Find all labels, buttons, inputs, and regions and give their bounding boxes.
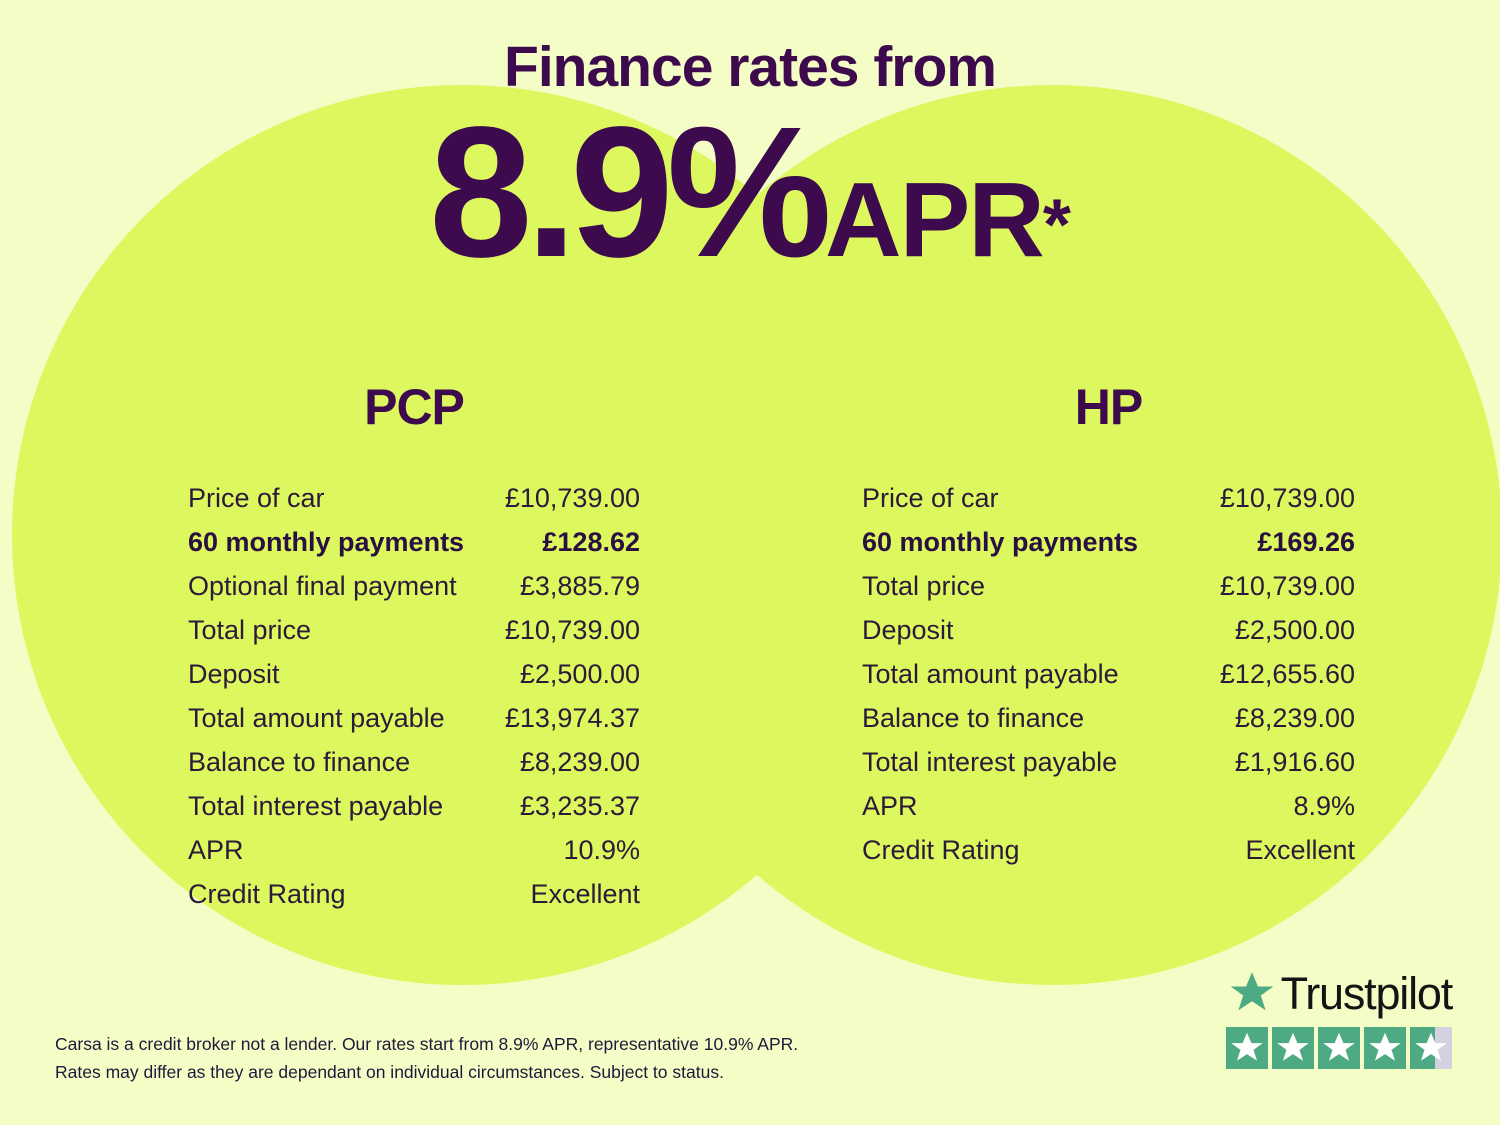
hero-asterisk: * bbox=[1043, 186, 1071, 266]
plan-row-value: £10,739.00 bbox=[505, 617, 640, 644]
rating-star-full bbox=[1364, 1027, 1406, 1069]
hero-apr-rate: 8.9% bbox=[429, 89, 825, 296]
plan-row: APR10.9% bbox=[188, 828, 640, 872]
hero-apr-label: APR bbox=[825, 161, 1043, 279]
plan-title-hp: HP bbox=[862, 382, 1355, 432]
plan-row: 60 monthly payments£169.26 bbox=[862, 520, 1355, 564]
plan-row-label: Deposit bbox=[862, 617, 954, 644]
trustpilot-name: Trustpilot bbox=[1281, 971, 1452, 1016]
plan-row-value: £1,916.60 bbox=[1235, 749, 1355, 776]
plan-row-value: £3,885.79 bbox=[520, 573, 640, 600]
plan-row-label: Total interest payable bbox=[188, 793, 443, 820]
plan-row-value: £128.62 bbox=[542, 529, 640, 556]
plan-row: 60 monthly payments£128.62 bbox=[188, 520, 640, 564]
plan-row-label: Total amount payable bbox=[188, 705, 445, 732]
plan-row-label: Balance to finance bbox=[862, 705, 1084, 732]
plan-row: Deposit£2,500.00 bbox=[862, 608, 1355, 652]
plan-row: Credit RatingExcellent bbox=[862, 828, 1355, 872]
plan-row-label: Optional final payment bbox=[188, 573, 457, 600]
plan-row-value: £169.26 bbox=[1257, 529, 1355, 556]
plan-row: Price of car£10,739.00 bbox=[188, 476, 640, 520]
plan-row: Credit RatingExcellent bbox=[188, 872, 640, 916]
plan-row-label: APR bbox=[862, 793, 918, 820]
plan-rows-pcp: Price of car£10,739.0060 monthly payment… bbox=[188, 476, 640, 916]
plan-row-value: £12,655.60 bbox=[1220, 661, 1355, 688]
plan-row: Total interest payable£3,235.37 bbox=[188, 784, 640, 828]
trustpilot-wordmark: Trustpilot bbox=[1226, 968, 1452, 1018]
hero-rate-line: 8.9%APR* bbox=[0, 98, 1500, 286]
plan-row-value: £8,239.00 bbox=[1235, 705, 1355, 732]
plan-row-value: Excellent bbox=[530, 881, 640, 908]
plan-row: Total price£10,739.00 bbox=[188, 608, 640, 652]
plan-row: Total price£10,739.00 bbox=[862, 564, 1355, 608]
plan-row-label: Credit Rating bbox=[188, 881, 346, 908]
plan-comparison: PCP Price of car£10,739.0060 monthly pay… bbox=[0, 382, 1500, 916]
plan-row: APR8.9% bbox=[862, 784, 1355, 828]
plan-row: Deposit£2,500.00 bbox=[188, 652, 640, 696]
plan-row: Balance to finance£8,239.00 bbox=[862, 696, 1355, 740]
plan-row: Total amount payable£13,974.37 bbox=[188, 696, 640, 740]
disclaimer-text: Carsa is a credit broker not a lender. O… bbox=[55, 1030, 875, 1087]
rating-star-full bbox=[1226, 1027, 1268, 1069]
plan-row-label: Price of car bbox=[862, 485, 999, 512]
plan-row-value: £2,500.00 bbox=[1235, 617, 1355, 644]
plan-column-pcp: PCP Price of car£10,739.0060 monthly pay… bbox=[0, 382, 750, 916]
header: Finance rates from 8.9%APR* bbox=[0, 0, 1500, 286]
plan-row: Price of car£10,739.00 bbox=[862, 476, 1355, 520]
page-title: Finance rates from bbox=[0, 0, 1500, 98]
plan-row-value: £13,974.37 bbox=[505, 705, 640, 732]
plan-row-label: Price of car bbox=[188, 485, 325, 512]
plan-row-label: 60 monthly payments bbox=[862, 529, 1138, 556]
plan-row-label: Credit Rating bbox=[862, 837, 1020, 864]
plan-row-value: £8,239.00 bbox=[520, 749, 640, 776]
trustpilot-star-icon bbox=[1229, 970, 1275, 1016]
plan-row-label: Total price bbox=[188, 617, 311, 644]
disclaimer-line-2: Rates may differ as they are dependant o… bbox=[55, 1058, 875, 1086]
plan-row: Total amount payable£12,655.60 bbox=[862, 652, 1355, 696]
plan-row-label: 60 monthly payments bbox=[188, 529, 464, 556]
finance-rates-graphic: Finance rates from 8.9%APR* PCP Price of… bbox=[0, 0, 1500, 1125]
plan-row-label: Total price bbox=[862, 573, 985, 600]
rating-star-half bbox=[1410, 1027, 1452, 1069]
plan-row-value: Excellent bbox=[1245, 837, 1355, 864]
plan-row-label: Total interest payable bbox=[862, 749, 1117, 776]
plan-row-value: 8.9% bbox=[1293, 793, 1355, 820]
plan-row-value: £10,739.00 bbox=[1220, 573, 1355, 600]
plan-row-value: 10.9% bbox=[563, 837, 640, 864]
rating-star-full bbox=[1272, 1027, 1314, 1069]
plan-column-hp: HP Price of car£10,739.0060 monthly paym… bbox=[750, 382, 1500, 916]
plan-row-value: £10,739.00 bbox=[505, 485, 640, 512]
plan-row: Total interest payable£1,916.60 bbox=[862, 740, 1355, 784]
rating-star-full bbox=[1318, 1027, 1360, 1069]
plan-row-value: £3,235.37 bbox=[520, 793, 640, 820]
plan-row-value: £10,739.00 bbox=[1220, 485, 1355, 512]
plan-row-label: Deposit bbox=[188, 661, 280, 688]
plan-row: Balance to finance£8,239.00 bbox=[188, 740, 640, 784]
plan-title-pcp: PCP bbox=[188, 382, 640, 432]
plan-rows-hp: Price of car£10,739.0060 monthly payment… bbox=[862, 476, 1355, 872]
plan-row: Optional final payment£3,885.79 bbox=[188, 564, 640, 608]
trustpilot-badge[interactable]: Trustpilot bbox=[1226, 968, 1452, 1069]
plan-row-label: APR bbox=[188, 837, 244, 864]
disclaimer-line-1: Carsa is a credit broker not a lender. O… bbox=[55, 1030, 875, 1058]
trustpilot-rating-stars bbox=[1226, 1027, 1452, 1069]
plan-row-label: Total amount payable bbox=[862, 661, 1119, 688]
plan-row-value: £2,500.00 bbox=[520, 661, 640, 688]
plan-row-label: Balance to finance bbox=[188, 749, 410, 776]
